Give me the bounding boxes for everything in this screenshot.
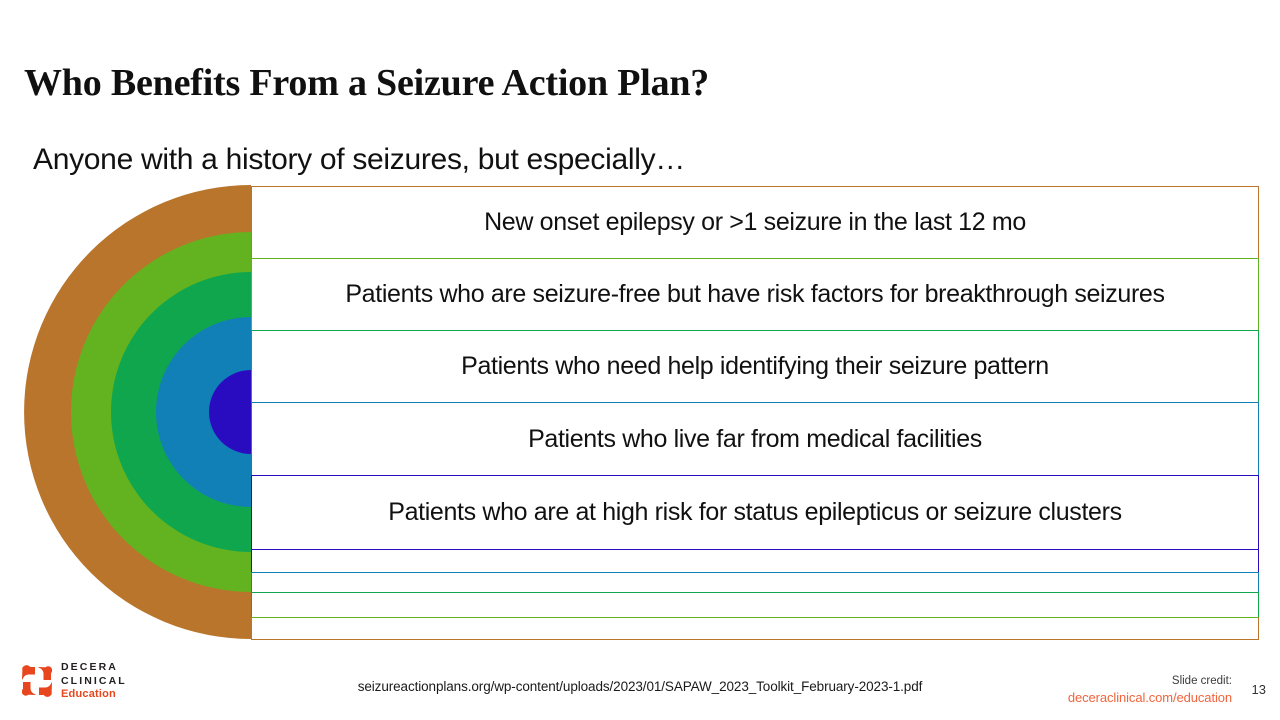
- band-label: Patients who live far from medical facil…: [528, 424, 982, 455]
- semicircle-rings: [0, 180, 280, 650]
- slide-credit: Slide credit: deceraclinical.com/educati…: [1032, 674, 1232, 706]
- band-row-1[interactable]: New onset epilepsy or >1 seizure in the …: [251, 186, 1259, 258]
- band-label: Patients who need help identifying their…: [461, 351, 1049, 382]
- nested-semicircle-diagram: New onset epilepsy or >1 seizure in the …: [0, 180, 1280, 650]
- page-number: 13: [1252, 682, 1266, 697]
- slide-credit-link[interactable]: deceraclinical.com/education: [1032, 689, 1232, 706]
- band-row-6-mirror-indigo[interactable]: [251, 549, 1259, 572]
- band-label: New onset epilepsy or >1 seizure in the …: [484, 207, 1026, 238]
- band-row-3[interactable]: Patients who need help identifying their…: [251, 330, 1259, 402]
- slide-footer: DECERA CLINICAL Education seizureactionp…: [0, 650, 1280, 720]
- band-row-5[interactable]: Patients who are at high risk for status…: [251, 475, 1259, 549]
- band-label: Patients who are seizure-free but have r…: [345, 279, 1164, 310]
- page-title: Who Benefits From a Seizure Action Plan?: [24, 60, 709, 106]
- band-row-9-mirror-brown[interactable]: [251, 617, 1259, 640]
- band-row-4[interactable]: Patients who live far from medical facil…: [251, 402, 1259, 475]
- band-list: New onset epilepsy or >1 seizure in the …: [251, 186, 1259, 640]
- page-subtitle: Anyone with a history of seizures, but e…: [33, 141, 685, 179]
- slide-credit-label: Slide credit:: [1032, 674, 1232, 689]
- band-row-8-mirror-emerald[interactable]: [251, 592, 1259, 617]
- band-row-7-mirror-blue[interactable]: [251, 572, 1259, 592]
- logo-line-decera: DECERA: [61, 662, 127, 673]
- band-label: Patients who are at high risk for status…: [388, 497, 1121, 528]
- band-row-2[interactable]: Patients who are seizure-free but have r…: [251, 258, 1259, 330]
